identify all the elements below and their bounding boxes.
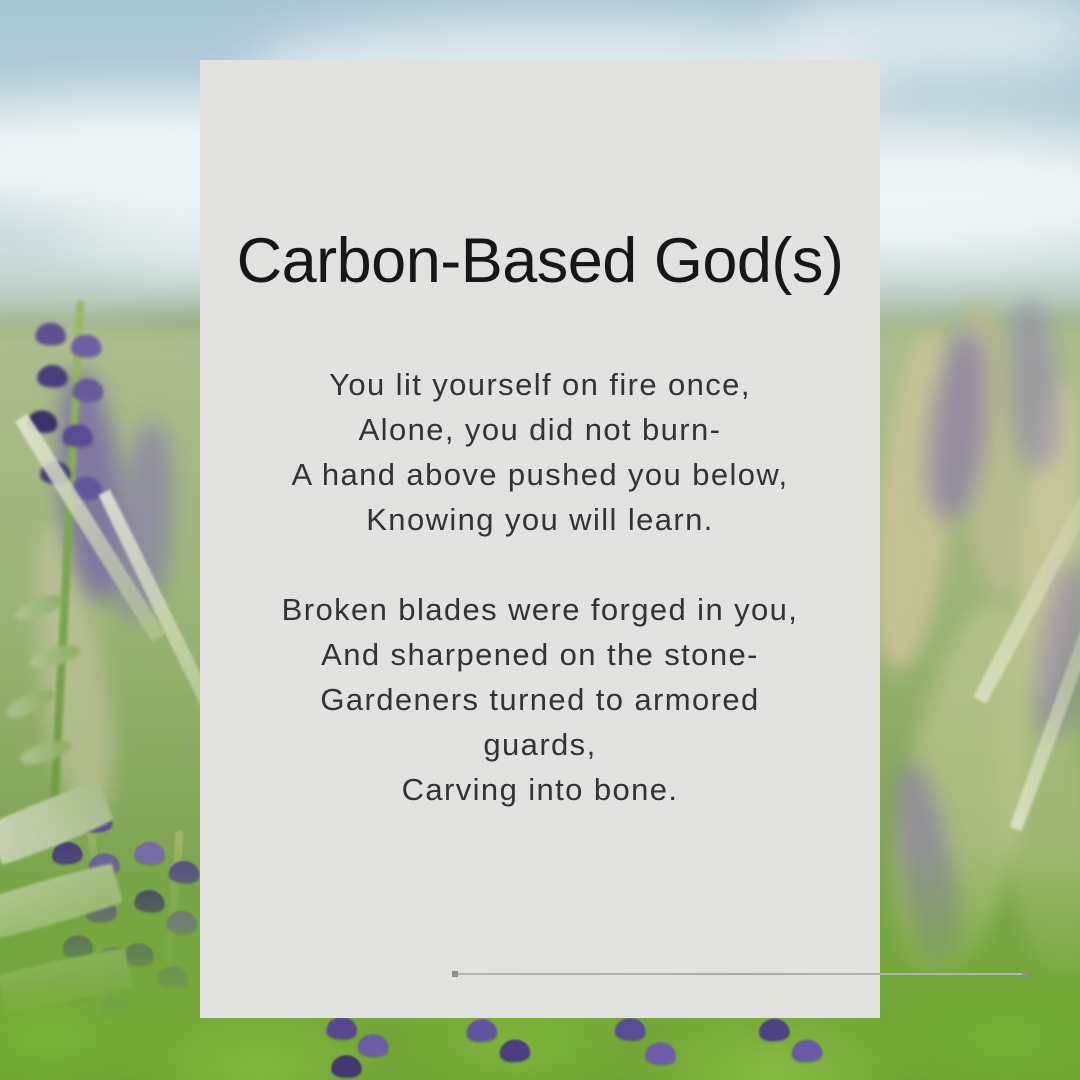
flower-floret [499, 1039, 530, 1063]
flower-floret [792, 1039, 823, 1062]
poem-stanza: You lit yourself on fire once, Alone, yo… [240, 362, 840, 542]
flower-floret [326, 1017, 357, 1040]
flower-leaf [27, 641, 82, 672]
divider-endpoint-left [452, 971, 458, 977]
flower-floret [331, 1055, 362, 1078]
lupine-spike [468, 1012, 546, 1080]
poem-stanza: Broken blades were forged in you, And sh… [240, 587, 840, 812]
poem-line: Alone, you did not burn- [240, 407, 840, 452]
poem-line: A hand above pushed you below, [240, 452, 840, 497]
divider-line [452, 973, 1028, 975]
flower-floret [71, 334, 102, 358]
poem-line: Carving into bone. [240, 767, 840, 812]
flower-floret [759, 1018, 790, 1041]
poem-line: Gardeners turned to armored [240, 677, 840, 722]
flower-floret [466, 1019, 497, 1043]
poem-line: You lit yourself on fire once, [240, 362, 840, 407]
lupine-spike [329, 1011, 406, 1080]
poem-line: And sharpened on the stone- [240, 632, 840, 677]
lupine-spike [759, 1011, 836, 1080]
divider-endpoint-right [1022, 971, 1028, 977]
poem-image: Carbon-Based God(s) You lit yourself on … [0, 0, 1080, 1080]
poem-line: guards, [240, 722, 840, 767]
poem-line: Broken blades were forged in you, [240, 587, 840, 632]
flower-floret [62, 424, 93, 448]
flower-floret [72, 378, 103, 402]
flower-floret [35, 322, 66, 346]
poem-body: You lit yourself on fire once, Alone, yo… [240, 362, 840, 812]
flower-leaf [18, 736, 73, 768]
poem-title: Carbon-Based God(s) [237, 60, 844, 294]
flower-floret [37, 364, 68, 388]
flower-floret [615, 1017, 646, 1041]
divider [452, 970, 1028, 978]
flower-floret [358, 1034, 389, 1057]
poem-line: Knowing you will learn. [240, 497, 840, 542]
lupine-spike [617, 1008, 696, 1080]
flower-floret [645, 1041, 676, 1065]
poem-card: Carbon-Based God(s) You lit yourself on … [200, 60, 880, 1018]
